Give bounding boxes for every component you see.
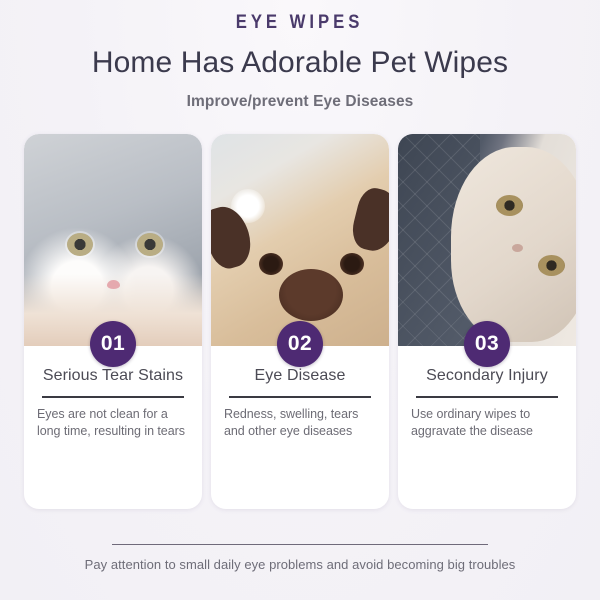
dog-ear-left (211, 201, 257, 272)
card-divider (42, 396, 184, 398)
card-divider (416, 396, 558, 398)
card-body: Secondary Injury Use ordinary wipes to a… (398, 366, 576, 440)
cat-nose (107, 280, 120, 289)
card-divider (229, 396, 371, 398)
footer-text: Pay attention to small daily eye problem… (0, 557, 600, 572)
card-number-badge: 01 (90, 321, 136, 367)
poster-root: EYE WIPES Home Has Adorable Pet Wipes Im… (0, 0, 600, 600)
dog-muzzle (279, 269, 343, 321)
cat-eye-lower (538, 255, 565, 276)
card-description: Eyes are not clean for a long time, resu… (37, 406, 189, 439)
card-list: 01 Serious Tear Stains Eyes are not clea… (24, 134, 576, 509)
card-title: Serious Tear Stains (37, 366, 189, 386)
card-description: Redness, swelling, tears and other eye d… (224, 406, 376, 439)
cat-eye-left (67, 233, 93, 256)
cat-photo-1 (24, 134, 202, 346)
card-item[interactable]: 03 Secondary Injury Use ordinary wipes t… (398, 134, 576, 509)
dog-ear-right (348, 185, 389, 255)
card-body: Eye Disease Redness, swelling, tears and… (211, 366, 389, 440)
card-body: Serious Tear Stains Eyes are not clean f… (24, 366, 202, 440)
card-title: Eye Disease (224, 366, 376, 386)
cat-nose (512, 244, 523, 252)
cat-photo-2 (398, 134, 576, 346)
cat-eye-right (137, 233, 163, 256)
card-number-badge: 03 (464, 321, 510, 367)
card-number-badge: 02 (277, 321, 323, 367)
card-item[interactable]: 02 Eye Disease Redness, swelling, tears … (211, 134, 389, 509)
card-item[interactable]: 01 Serious Tear Stains Eyes are not clea… (24, 134, 202, 509)
footer-divider (112, 544, 488, 546)
cat-eye-upper (496, 195, 523, 216)
page-subtitle: Improve/prevent Eye Diseases (187, 93, 414, 111)
kicker-eye-wipes: EYE WIPES (236, 13, 364, 32)
card-title: Secondary Injury (411, 366, 563, 386)
dog-photo (211, 134, 389, 346)
card-description: Use ordinary wipes to aggravate the dise… (411, 406, 563, 439)
footer: Pay attention to small daily eye problem… (0, 544, 600, 573)
dog-eye-left (259, 253, 283, 275)
dog-eye-right (340, 253, 364, 275)
page-title: Home Has Adorable Pet Wipes (92, 47, 508, 79)
